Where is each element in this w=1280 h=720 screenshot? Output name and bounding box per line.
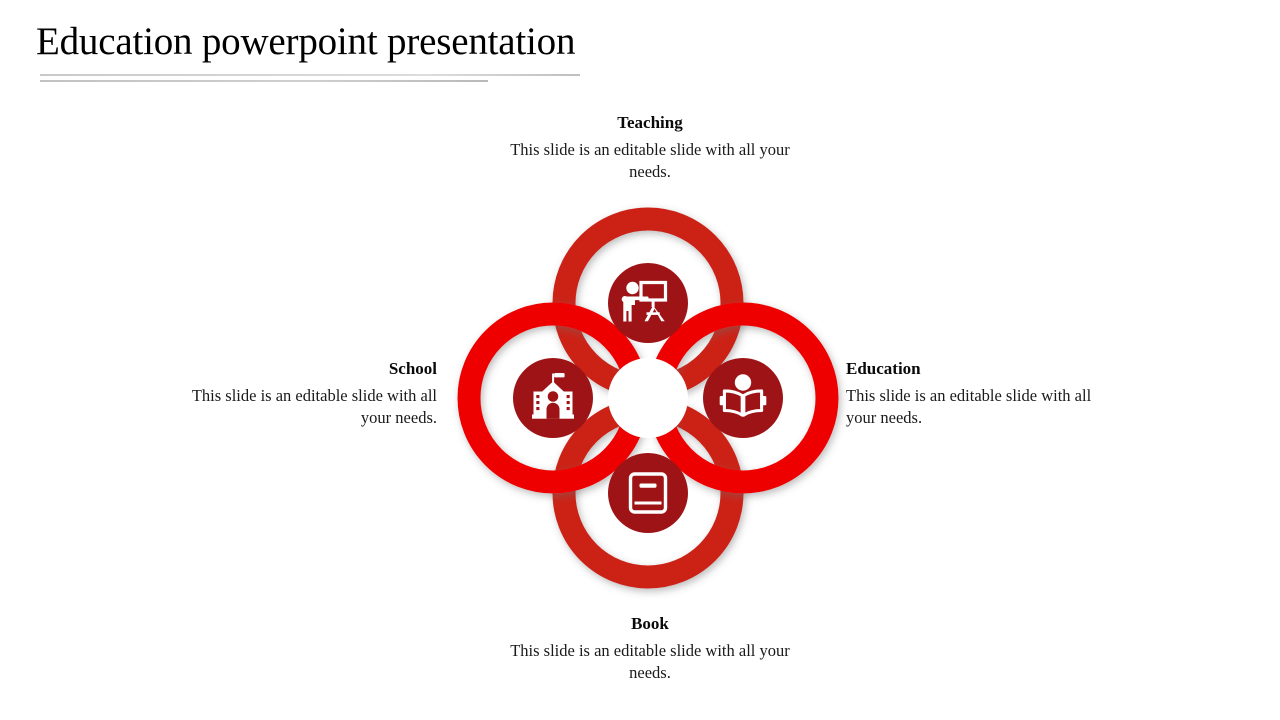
node-school[interactable] — [513, 358, 593, 438]
node-education[interactable] — [703, 358, 783, 438]
caption-teaching: Teaching This slide is an editable slide… — [505, 112, 795, 183]
caption-body-education: This slide is an editable slide with all… — [846, 385, 1108, 429]
caption-school: School This slide is an editable slide w… — [175, 358, 437, 429]
title-divider-line-bottom — [40, 80, 488, 82]
title-divider-line-top — [40, 74, 580, 76]
node-teaching[interactable] — [608, 263, 688, 343]
node-book[interactable] — [608, 453, 688, 533]
center-petal-mask — [608, 358, 688, 438]
caption-body-school: This slide is an editable slide with all… — [175, 385, 437, 429]
page-title: Education powerpoint presentation — [36, 18, 575, 66]
caption-book: Book This slide is an editable slide wit… — [505, 613, 795, 684]
icon-circle-book — [608, 453, 688, 533]
caption-title-book: Book — [505, 613, 795, 635]
title-divider — [40, 74, 600, 86]
icon-circle-teaching — [608, 263, 688, 343]
caption-title-education: Education — [846, 358, 1108, 380]
four-petal-ring-diagram — [436, 186, 860, 610]
caption-education: Education This slide is an editable slid… — [846, 358, 1108, 429]
caption-title-school: School — [175, 358, 437, 380]
caption-body-teaching: This slide is an editable slide with all… — [505, 139, 795, 183]
caption-title-teaching: Teaching — [505, 112, 795, 134]
caption-body-book: This slide is an editable slide with all… — [505, 640, 795, 684]
